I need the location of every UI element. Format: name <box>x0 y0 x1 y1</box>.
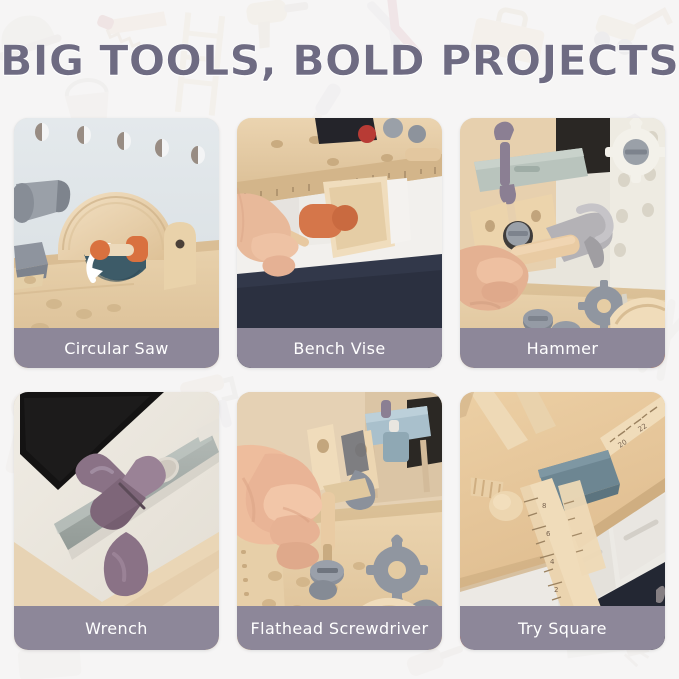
card-label-try-square: Try Square <box>460 606 665 650</box>
marketing-collage: BIG TOOLS, BOLD PROJECTS <box>0 0 679 679</box>
card-label-flathead-screwdriver: Flathead Screwdriver <box>237 606 442 650</box>
feature-grid: Circular Saw <box>14 118 665 650</box>
svg-text:8: 8 <box>542 502 546 510</box>
feature-card-hammer[interactable]: Hammer <box>460 118 665 368</box>
card-label-circular-saw: Circular Saw <box>14 328 219 368</box>
feature-card-circular-saw[interactable]: Circular Saw <box>14 118 219 368</box>
feature-card-bench-vise[interactable]: Bench Vise <box>237 118 442 368</box>
svg-text:2: 2 <box>554 586 558 594</box>
svg-text:6: 6 <box>546 530 551 538</box>
card-label-wrench: Wrench <box>14 606 219 650</box>
svg-text:4: 4 <box>550 558 555 566</box>
page-title: BIG TOOLS, BOLD PROJECTS <box>0 36 679 85</box>
card-label-hammer: Hammer <box>460 328 665 368</box>
feature-card-wrench[interactable]: Wrench <box>14 392 219 650</box>
card-label-bench-vise: Bench Vise <box>237 328 442 368</box>
feature-card-try-square[interactable]: 20 22 <box>460 392 665 650</box>
feature-card-flathead-screwdriver[interactable]: Flathead Screwdriver <box>237 392 442 650</box>
